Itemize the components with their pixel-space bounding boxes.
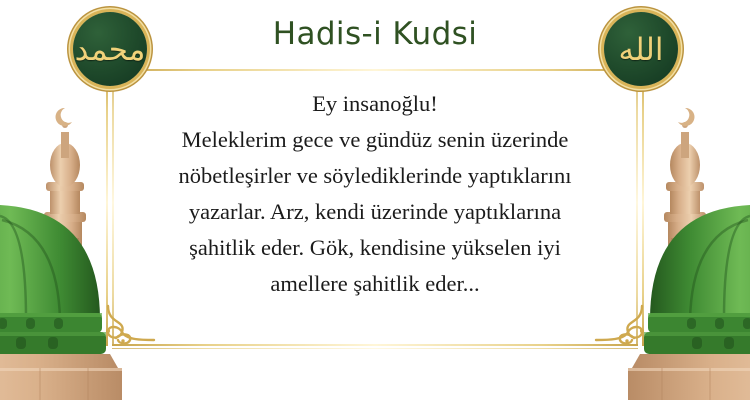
hadith-line: nöbetleşirler ve söylediklerinde yaptıkl… [125, 158, 625, 194]
minaret [44, 108, 86, 278]
frame-rule-bottom-inner [112, 348, 638, 349]
hadith-text: Ey insanoğlu! Meleklerim gece ve gündüz … [125, 86, 625, 302]
frame-rail-left [106, 60, 108, 346]
crescent-finial-icon [56, 108, 72, 126]
hadith-line: şahitlik eder. Gök, kendisine yükselen i… [125, 230, 625, 266]
crescent-finial-icon [678, 108, 694, 126]
page-title: Hadis-i Kudsi [0, 16, 750, 52]
mosque-base [0, 354, 122, 400]
hadith-line: amellere şahitlik eder... [125, 266, 625, 302]
hadis-i-kudsi-card: محمد الله Hadis-i Kudsi Ey insanoğlu! Me… [0, 0, 750, 400]
frame-rail-right-inner [636, 60, 638, 346]
green-dome [0, 205, 106, 354]
gold-scroll-flourish-icon-bottom-left [92, 300, 162, 360]
frame-rule-bottom [112, 344, 638, 346]
frame-rail-left-inner [112, 60, 114, 346]
gold-scroll-flourish-icon-bottom-right [588, 300, 658, 360]
hadith-line: Meleklerim gece ve gündüz senin üzerinde [125, 122, 625, 158]
frame-rule-top [108, 69, 642, 71]
hadith-line: Ey insanoğlu! [125, 86, 625, 122]
hadith-line: yazarlar. Arz, kendi üzerinde yaptıkları… [125, 194, 625, 230]
frame-rail-right [642, 60, 644, 346]
